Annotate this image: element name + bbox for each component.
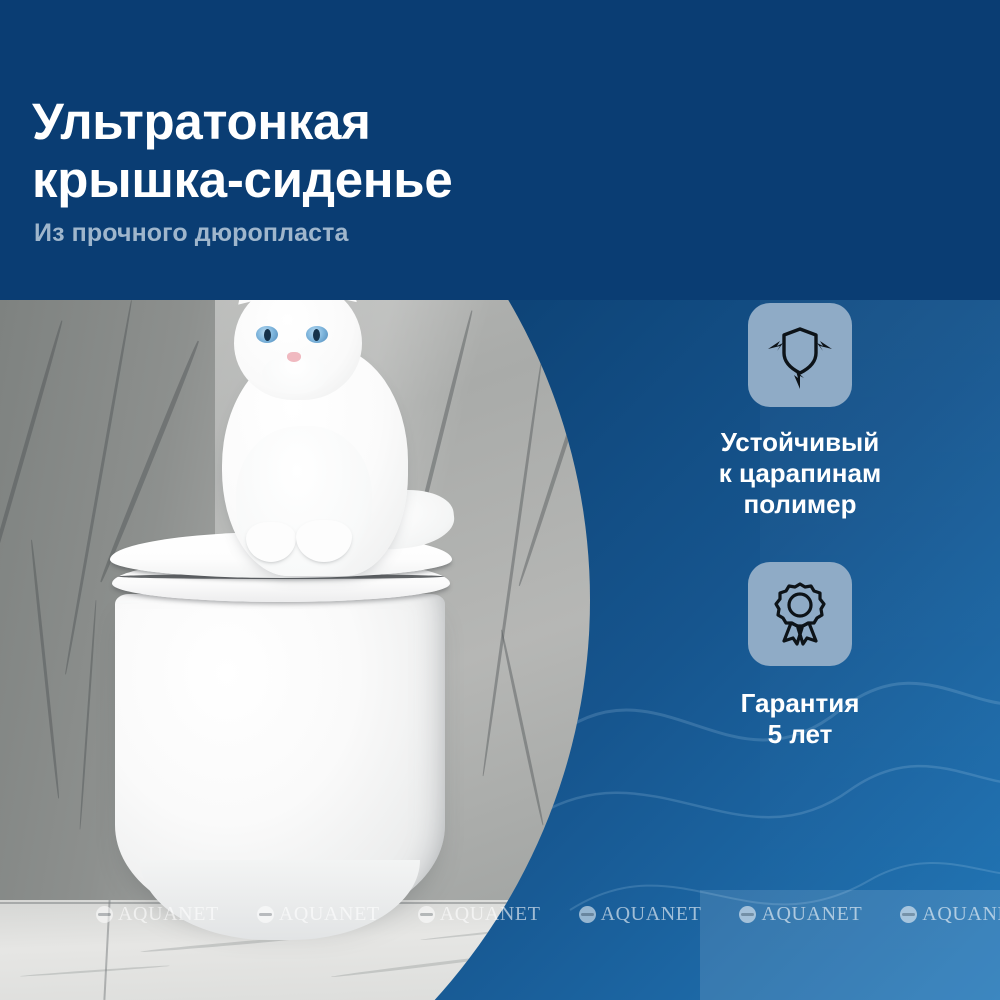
- background-lower-panel: [700, 890, 1000, 1000]
- feature-label: Гарантия 5 лет: [690, 688, 910, 750]
- headline-line-1: Ультратонкая: [32, 93, 371, 150]
- feature-icon-tile: [748, 303, 852, 407]
- feature-label: Устойчивый к царапинам полимер: [690, 427, 910, 520]
- feature-label-line-3: полимер: [743, 489, 856, 519]
- product-banner: Ультратонкая крышка-сиденье Из прочного …: [0, 0, 1000, 1000]
- feature-label-line-2: к царапинам: [719, 458, 881, 488]
- feature-scratch-resistant: Устойчивый к царапинам полимер: [690, 303, 910, 520]
- header-banner: Ультратонкая крышка-сиденье Из прочного …: [0, 0, 1000, 300]
- feature-label-line-2: 5 лет: [768, 719, 833, 749]
- shield-deflect-icon: [764, 319, 836, 391]
- cat-nose: [287, 352, 301, 362]
- page-title: Ультратонкая крышка-сиденье: [32, 93, 672, 209]
- page-subtitle: Из прочного дюропласта: [34, 219, 348, 248]
- cat-pupil-left: [264, 329, 271, 341]
- award-rosette-icon: [764, 578, 836, 650]
- feature-icon-tile: [748, 562, 852, 666]
- headline-line-2: крышка-сиденье: [32, 151, 672, 209]
- feature-warranty: Гарантия 5 лет: [690, 562, 910, 750]
- feature-label-line-1: Гарантия: [741, 688, 860, 718]
- feature-label-line-1: Устойчивый: [721, 427, 880, 457]
- cat-pupil-right: [313, 329, 320, 341]
